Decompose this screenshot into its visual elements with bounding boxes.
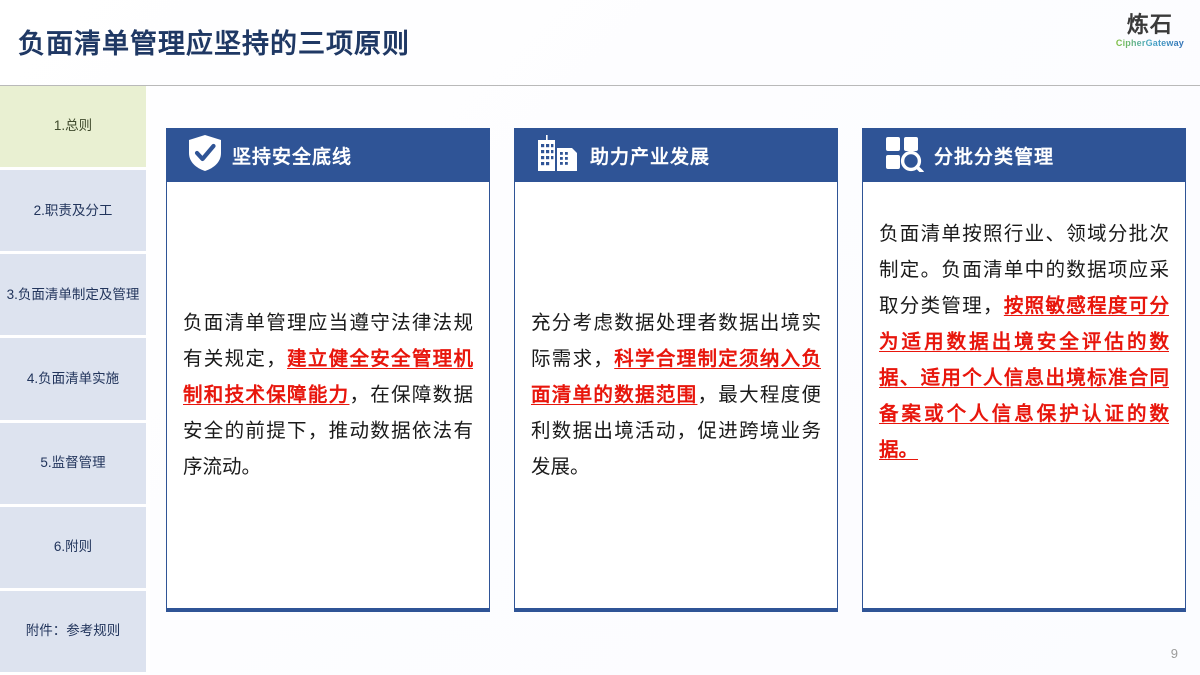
card-body-1: 负面清单管理应当遵守法律法规有关规定，建立健全安全管理机制和技术保障能力，在保障…: [166, 182, 490, 612]
card-title: 分批分类管理: [934, 142, 1054, 169]
card-body-text: 负面清单管理应当遵守法律法规有关规定，建立健全安全管理机制和技术保障能力，在保障…: [183, 305, 473, 485]
card-title: 助力产业发展: [590, 142, 710, 169]
sidebar-item-label: 6.附则: [54, 538, 92, 556]
card-title: 坚持安全底线: [232, 142, 352, 169]
sidebar-item-1[interactable]: 1.总则: [0, 86, 146, 170]
shield-check-icon: [188, 134, 222, 177]
principle-card-1: 坚持安全底线负面清单管理应当遵守法律法规有关规定，建立健全安全管理机制和技术保障…: [166, 128, 490, 612]
card-body-text: 负面清单按照行业、领域分批次制定。负面清单中的数据项应采取分类管理，按照敏感程度…: [879, 216, 1169, 468]
card-header-1: 坚持安全底线: [166, 128, 490, 182]
grid-search-icon: [884, 134, 924, 177]
principle-card-2: 助力产业发展充分考虑数据处理者数据出境实际需求，科学合理制定须纳入负面清单的数据…: [514, 128, 838, 612]
sidebar-item-label: 4.负面清单实施: [27, 370, 119, 388]
principle-card-3: 分批分类管理负面清单按照行业、领域分批次制定。负面清单中的数据项应采取分类管理，…: [862, 128, 1186, 612]
sidebar-item-3[interactable]: 3.负面清单制定及管理: [0, 254, 146, 338]
logo-english-text: CipherGateway: [1116, 39, 1184, 48]
highlighted-text: 按照敏感程度可分为适用数据出境安全评估的数据、适用个人信息出境标准合同备案或个人…: [879, 295, 1169, 461]
brand-logo: 炼石 CipherGateway: [1116, 14, 1184, 48]
sidebar-item-label: 2.职责及分工: [34, 202, 113, 220]
principle-cards: 坚持安全底线负面清单管理应当遵守法律法规有关规定，建立健全安全管理机制和技术保障…: [166, 128, 1186, 612]
logo-chinese-text: 炼石: [1116, 14, 1184, 36]
sidebar-item-7[interactable]: 附件：参考规则: [0, 591, 146, 675]
header-divider: [0, 85, 1200, 86]
sidebar-divider: [146, 86, 150, 675]
sidebar-item-4[interactable]: 4.负面清单实施: [0, 338, 146, 422]
page-title: 负面清单管理应坚持的三项原则: [18, 22, 410, 61]
sidebar-item-6[interactable]: 6.附则: [0, 507, 146, 591]
card-body-3: 负面清单按照行业、领域分批次制定。负面清单中的数据项应采取分类管理，按照敏感程度…: [862, 182, 1186, 612]
card-body-text: 充分考虑数据处理者数据出境实际需求，科学合理制定须纳入负面清单的数据范围，最大程…: [531, 305, 821, 485]
sidebar-item-label: 附件：参考规则: [26, 622, 121, 640]
card-header-3: 分批分类管理: [862, 128, 1186, 182]
card-body-2: 充分考虑数据处理者数据出境实际需求，科学合理制定须纳入负面清单的数据范围，最大程…: [514, 182, 838, 612]
slide-header: 负面清单管理应坚持的三项原则 炼石 CipherGateway: [0, 0, 1200, 86]
sidebar-item-2[interactable]: 2.职责及分工: [0, 170, 146, 254]
sidebar-item-label: 3.负面清单制定及管理: [7, 286, 140, 304]
card-header-2: 助力产业发展: [514, 128, 838, 182]
sidebar-nav: 1.总则2.职责及分工3.负面清单制定及管理4.负面清单实施5.监督管理6.附则…: [0, 86, 146, 675]
page-number: 9: [1171, 646, 1178, 661]
sidebar-item-label: 1.总则: [54, 117, 92, 135]
sidebar-item-label: 5.监督管理: [40, 454, 105, 472]
slide-root: 负面清单管理应坚持的三项原则 炼石 CipherGateway 1.总则2.职责…: [0, 0, 1200, 675]
buildings-icon: [536, 134, 580, 177]
sidebar-item-5[interactable]: 5.监督管理: [0, 423, 146, 507]
